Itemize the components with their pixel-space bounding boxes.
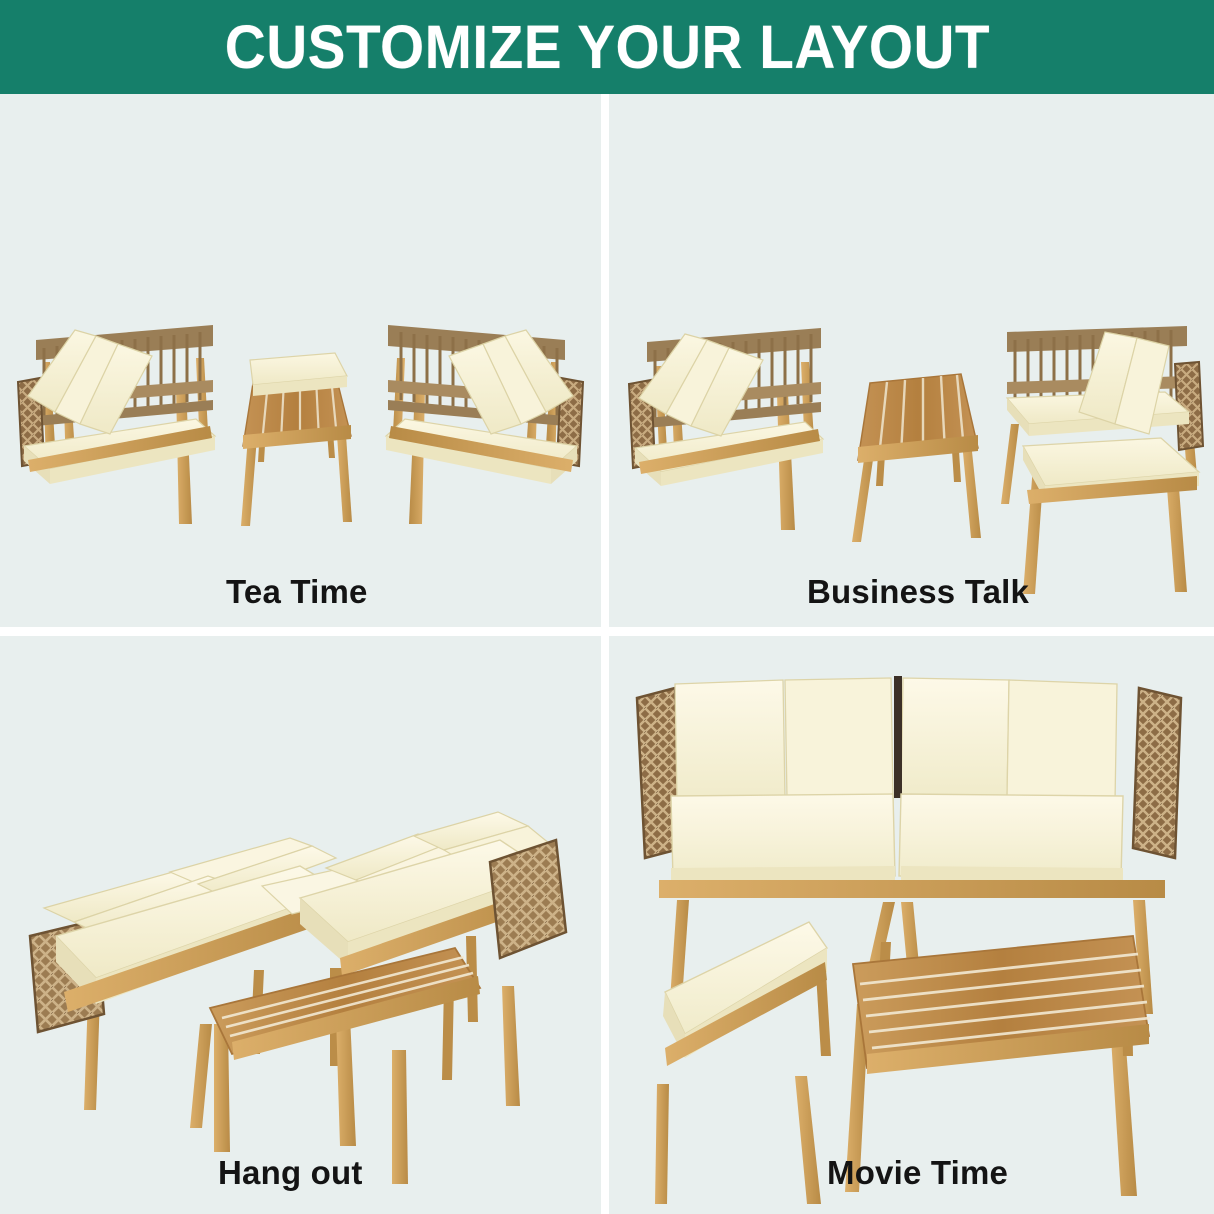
panel-label-movie-time: Movie Time — [827, 1154, 1008, 1192]
sofa-right — [386, 325, 583, 524]
page-title: CUSTOMIZE YOUR LAYOUT — [224, 17, 989, 78]
panel-label-tea-time: Tea Time — [226, 573, 368, 611]
panel-movie-time[interactable]: Movie Time — [609, 636, 1214, 1214]
panel-label-hang-out: Hang out — [218, 1154, 363, 1192]
panel-hang-out[interactable]: Hang out — [0, 636, 601, 1214]
scene-tea-time — [0, 94, 601, 627]
scene-business-talk — [609, 94, 1214, 627]
sofa-right-with-chaise — [1001, 326, 1203, 594]
horizontal-divider — [0, 627, 1214, 636]
sofa-left — [18, 325, 215, 524]
vertical-divider-top — [601, 94, 609, 627]
panel-tea-time[interactable]: Tea Time — [0, 94, 601, 627]
panel-business-talk[interactable]: Business Talk — [609, 94, 1214, 627]
layout-grid: Tea Time — [0, 94, 1214, 1214]
sectional-sofa — [30, 812, 566, 1152]
panel-label-business-talk: Business Talk — [807, 573, 1029, 611]
coffee-table-center — [852, 374, 981, 542]
header-banner: CUSTOMIZE YOUR LAYOUT — [0, 0, 1214, 94]
scene-hang-out — [0, 636, 601, 1214]
sofa-left — [629, 328, 823, 530]
product-infographic: CUSTOMIZE YOUR LAYOUT — [0, 0, 1214, 1214]
vertical-divider-bottom — [601, 636, 609, 1214]
scene-movie-time — [609, 636, 1214, 1214]
table-center-with-cushion — [241, 353, 352, 526]
